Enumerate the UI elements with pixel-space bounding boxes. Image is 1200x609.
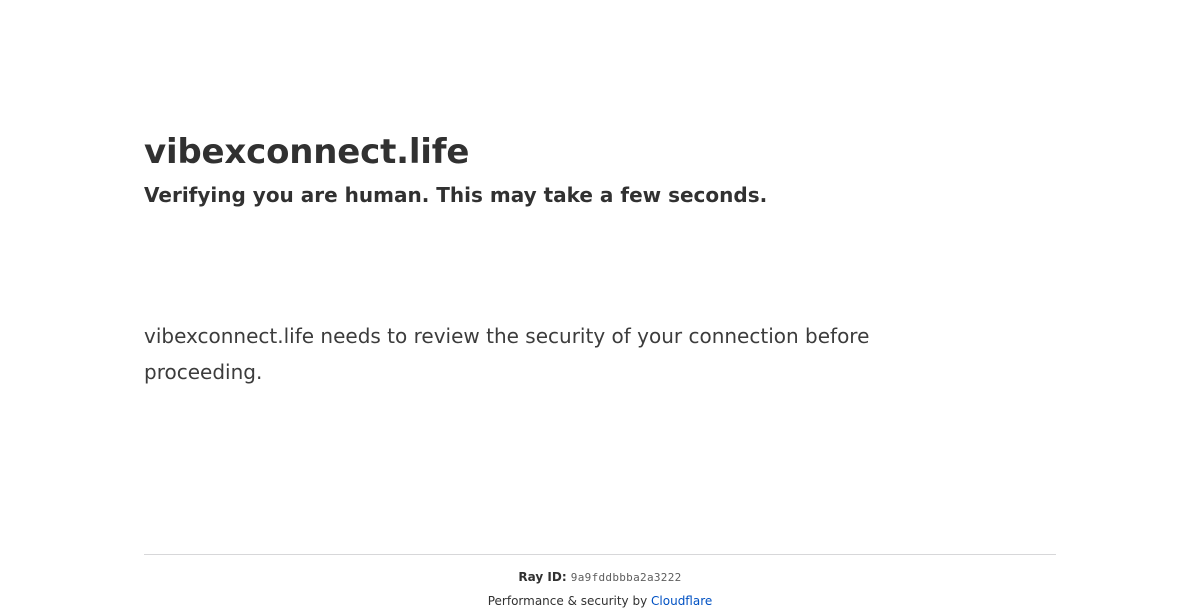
verification-status-text: Verifying you are human. This may take a…: [144, 182, 1056, 209]
ray-id-value: 9a9fddbbba2a3222: [571, 571, 682, 584]
cloudflare-link[interactable]: Cloudflare: [651, 594, 712, 608]
attribution-line: Performance & security by Cloudflare: [144, 584, 1056, 608]
challenge-main-block: vibexconnect.life Verifying you are huma…: [144, 132, 1056, 391]
footer: Ray ID: 9a9fddbbba2a3222 Performance & s…: [144, 554, 1056, 609]
ray-id-label: Ray ID:: [518, 570, 570, 584]
page-title: vibexconnect.life: [144, 132, 1056, 173]
challenge-page: vibexconnect.life Verifying you are huma…: [0, 0, 1200, 600]
security-review-description: vibexconnect.life needs to review the se…: [144, 318, 944, 391]
content-column: vibexconnect.life Verifying you are huma…: [144, 0, 1056, 600]
attribution-prefix: Performance & security by: [488, 594, 647, 608]
ray-id-line: Ray ID: 9a9fddbbba2a3222: [144, 555, 1056, 584]
challenge-widget-container[interactable]: [144, 221, 444, 318]
